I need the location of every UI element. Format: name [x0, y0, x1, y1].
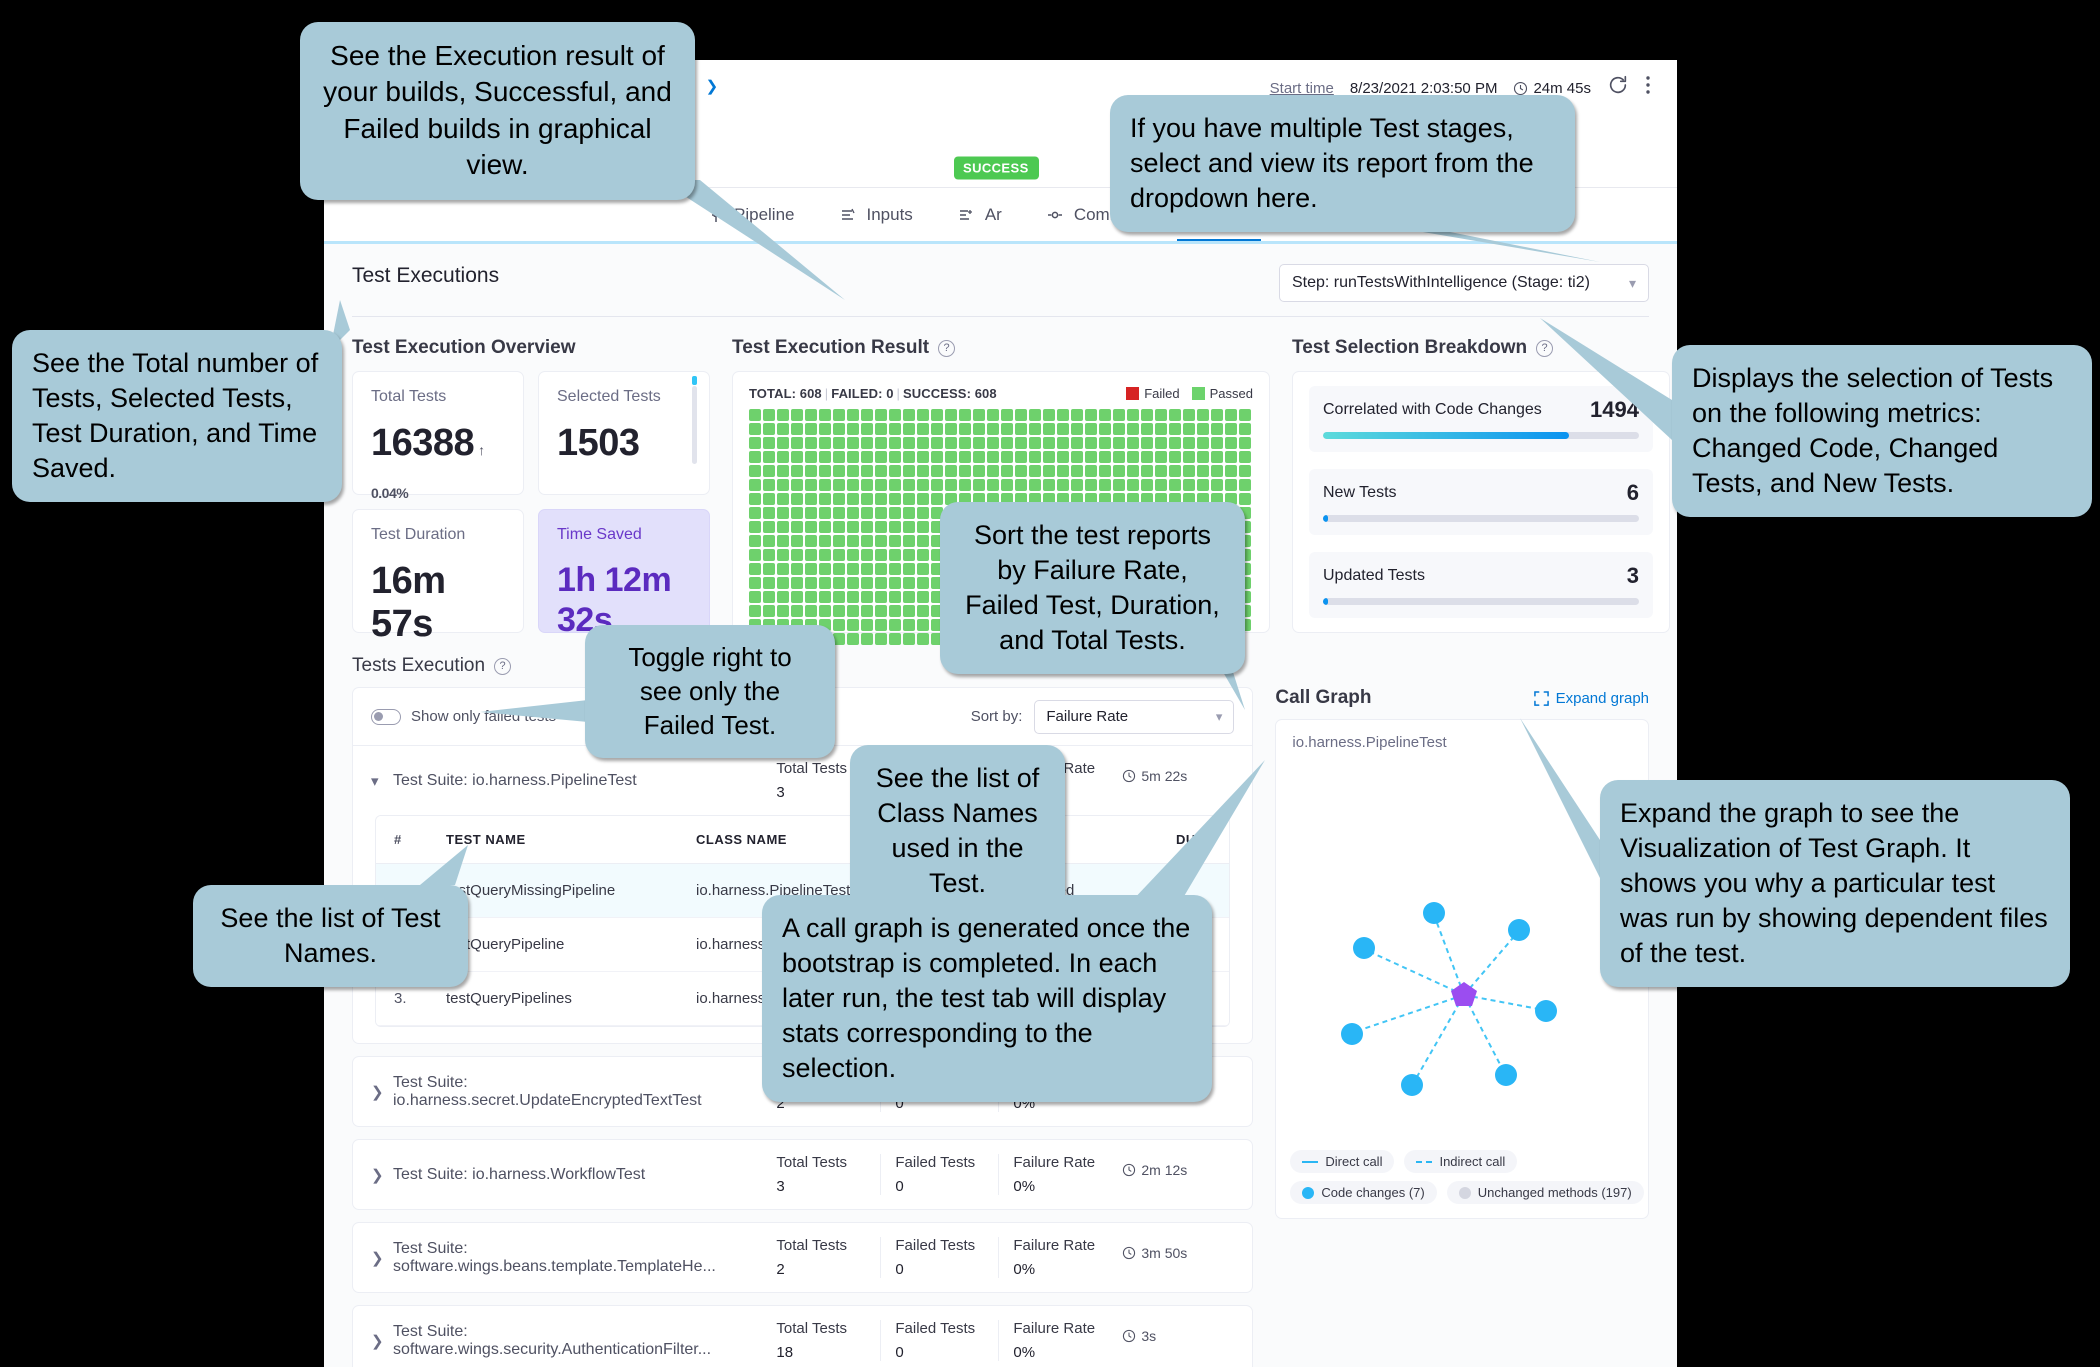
- result-tile[interactable]: [875, 451, 887, 463]
- result-tile[interactable]: [1155, 409, 1167, 421]
- result-tile[interactable]: [1015, 451, 1027, 463]
- result-tile[interactable]: [1085, 437, 1097, 449]
- result-tile[interactable]: [1127, 437, 1139, 449]
- result-tile[interactable]: [861, 591, 873, 603]
- result-tile[interactable]: [973, 451, 985, 463]
- result-tile[interactable]: [917, 451, 929, 463]
- result-tile[interactable]: [1127, 451, 1139, 463]
- result-tile[interactable]: [931, 493, 943, 505]
- result-tile[interactable]: [847, 605, 859, 617]
- result-tile[interactable]: [875, 479, 887, 491]
- result-tile[interactable]: [1071, 409, 1083, 421]
- result-tile[interactable]: [819, 591, 831, 603]
- result-tile[interactable]: [1211, 465, 1223, 477]
- result-tile[interactable]: [777, 465, 789, 477]
- result-tile[interactable]: [1239, 423, 1251, 435]
- result-tile[interactable]: [1155, 451, 1167, 463]
- result-tile[interactable]: [1057, 437, 1069, 449]
- result-tile[interactable]: [861, 465, 873, 477]
- result-tile[interactable]: [763, 465, 775, 477]
- result-tile[interactable]: [1183, 451, 1195, 463]
- result-tile[interactable]: [917, 409, 929, 421]
- result-tile[interactable]: [847, 633, 859, 645]
- result-tile[interactable]: [791, 465, 803, 477]
- result-tile[interactable]: [903, 437, 915, 449]
- tab-artifacts[interactable]: Ar: [935, 188, 1024, 242]
- result-tile[interactable]: [1057, 409, 1069, 421]
- result-tile[interactable]: [903, 409, 915, 421]
- result-tile[interactable]: [1197, 465, 1209, 477]
- tab-inputs[interactable]: Inputs: [817, 188, 935, 242]
- result-tile[interactable]: [833, 437, 845, 449]
- result-tile[interactable]: [945, 479, 957, 491]
- result-tile[interactable]: [763, 563, 775, 575]
- result-tile[interactable]: [749, 493, 761, 505]
- result-tile[interactable]: [987, 451, 999, 463]
- result-tile[interactable]: [777, 507, 789, 519]
- result-tile[interactable]: [1225, 465, 1237, 477]
- result-tile[interactable]: [833, 423, 845, 435]
- result-tile[interactable]: [903, 535, 915, 547]
- result-tile[interactable]: [833, 479, 845, 491]
- chevron-down-icon[interactable]: ▾: [371, 772, 393, 790]
- result-tile[interactable]: [1015, 423, 1027, 435]
- result-tile[interactable]: [889, 409, 901, 421]
- help-icon[interactable]: ?: [938, 340, 955, 357]
- result-tile[interactable]: [749, 521, 761, 533]
- result-tile[interactable]: [833, 535, 845, 547]
- result-tile[interactable]: [1197, 423, 1209, 435]
- result-tile[interactable]: [1085, 451, 1097, 463]
- result-tile[interactable]: [945, 451, 957, 463]
- result-tile[interactable]: [819, 437, 831, 449]
- result-tile[interactable]: [875, 549, 887, 561]
- result-tile[interactable]: [763, 409, 775, 421]
- result-tile[interactable]: [931, 479, 943, 491]
- result-tile[interactable]: [847, 479, 859, 491]
- result-tile[interactable]: [847, 521, 859, 533]
- result-tile[interactable]: [791, 521, 803, 533]
- result-tile[interactable]: [1099, 479, 1111, 491]
- result-tile[interactable]: [1197, 451, 1209, 463]
- result-tile[interactable]: [917, 493, 929, 505]
- result-tile[interactable]: [1127, 465, 1139, 477]
- result-tile[interactable]: [903, 563, 915, 575]
- result-tile[interactable]: [861, 619, 873, 631]
- result-tile[interactable]: [1015, 409, 1027, 421]
- result-tile[interactable]: [1099, 451, 1111, 463]
- result-tile[interactable]: [749, 423, 761, 435]
- result-tile[interactable]: [889, 591, 901, 603]
- result-tile[interactable]: [833, 465, 845, 477]
- result-tile[interactable]: [875, 605, 887, 617]
- result-tile[interactable]: [1113, 409, 1125, 421]
- sort-select[interactable]: Failure Rate ▾: [1034, 700, 1234, 734]
- result-tile[interactable]: [819, 409, 831, 421]
- result-tile[interactable]: [889, 465, 901, 477]
- result-tile[interactable]: [847, 507, 859, 519]
- result-tile[interactable]: [833, 577, 845, 589]
- result-tile[interactable]: [1169, 437, 1181, 449]
- help-icon[interactable]: ?: [1536, 340, 1553, 357]
- result-tile[interactable]: [917, 591, 929, 603]
- result-tile[interactable]: [889, 563, 901, 575]
- result-tile[interactable]: [1239, 437, 1251, 449]
- result-tile[interactable]: [749, 409, 761, 421]
- result-tile[interactable]: [1197, 479, 1209, 491]
- result-tile[interactable]: [889, 493, 901, 505]
- result-tile[interactable]: [861, 451, 873, 463]
- result-tile[interactable]: [1211, 423, 1223, 435]
- result-tile[interactable]: [1183, 423, 1195, 435]
- result-tile[interactable]: [1001, 465, 1013, 477]
- result-tile[interactable]: [889, 577, 901, 589]
- result-tile[interactable]: [791, 437, 803, 449]
- result-tile[interactable]: [847, 493, 859, 505]
- result-tile[interactable]: [833, 619, 845, 631]
- result-tile[interactable]: [889, 521, 901, 533]
- result-tile[interactable]: [1239, 409, 1251, 421]
- result-tile[interactable]: [805, 563, 817, 575]
- result-tile[interactable]: [917, 437, 929, 449]
- result-tile[interactable]: [1043, 437, 1055, 449]
- result-tile[interactable]: [819, 493, 831, 505]
- result-tile[interactable]: [1183, 409, 1195, 421]
- result-tile[interactable]: [875, 577, 887, 589]
- result-tile[interactable]: [861, 577, 873, 589]
- result-tile[interactable]: [1169, 465, 1181, 477]
- result-tile[interactable]: [903, 507, 915, 519]
- result-tile[interactable]: [875, 563, 887, 575]
- result-tile[interactable]: [875, 507, 887, 519]
- result-tile[interactable]: [903, 605, 915, 617]
- result-tile[interactable]: [1183, 479, 1195, 491]
- result-tile[interactable]: [917, 563, 929, 575]
- result-tile[interactable]: [1099, 437, 1111, 449]
- result-tile[interactable]: [805, 423, 817, 435]
- result-tile[interactable]: [847, 563, 859, 575]
- result-tile[interactable]: [1155, 479, 1167, 491]
- result-tile[interactable]: [833, 409, 845, 421]
- failed-only-toggle-wrap[interactable]: Show only failed tests: [371, 708, 556, 725]
- result-tile[interactable]: [1225, 423, 1237, 435]
- result-tile[interactable]: [917, 465, 929, 477]
- result-tile[interactable]: [847, 535, 859, 547]
- result-tile[interactable]: [1001, 423, 1013, 435]
- result-tile[interactable]: [1211, 451, 1223, 463]
- result-tile[interactable]: [777, 423, 789, 435]
- result-tile[interactable]: [819, 563, 831, 575]
- result-tile[interactable]: [903, 465, 915, 477]
- result-tile[interactable]: [819, 605, 831, 617]
- result-tile[interactable]: [791, 409, 803, 421]
- result-tile[interactable]: [763, 437, 775, 449]
- result-tile[interactable]: [861, 437, 873, 449]
- result-tile[interactable]: [1225, 479, 1237, 491]
- result-tile[interactable]: [847, 437, 859, 449]
- result-tile[interactable]: [1001, 437, 1013, 449]
- result-tile[interactable]: [819, 479, 831, 491]
- result-tile[interactable]: [791, 577, 803, 589]
- result-tile[interactable]: [1057, 479, 1069, 491]
- result-tile[interactable]: [847, 577, 859, 589]
- result-tile[interactable]: [805, 577, 817, 589]
- result-tile[interactable]: [805, 493, 817, 505]
- result-tile[interactable]: [1141, 479, 1153, 491]
- result-tile[interactable]: [1029, 437, 1041, 449]
- result-tile[interactable]: [1127, 409, 1139, 421]
- result-tile[interactable]: [763, 591, 775, 603]
- result-tile[interactable]: [875, 437, 887, 449]
- result-tile[interactable]: [777, 437, 789, 449]
- result-tile[interactable]: [903, 577, 915, 589]
- result-tile[interactable]: [847, 465, 859, 477]
- result-tile[interactable]: [805, 437, 817, 449]
- result-tile[interactable]: [987, 423, 999, 435]
- result-tile[interactable]: [833, 605, 845, 617]
- result-tile[interactable]: [777, 493, 789, 505]
- help-icon[interactable]: ?: [494, 658, 511, 675]
- result-tile[interactable]: [1015, 479, 1027, 491]
- result-tile[interactable]: [945, 423, 957, 435]
- test-suite-header[interactable]: ❯ Test Suite: software.wings.beans.templ…: [353, 1223, 1252, 1292]
- test-suite-header[interactable]: ❯ Test Suite: io.harness.WorkflowTest To…: [353, 1140, 1252, 1209]
- result-tile[interactable]: [819, 521, 831, 533]
- result-tile[interactable]: [889, 619, 901, 631]
- result-tile[interactable]: [805, 549, 817, 561]
- result-tile[interactable]: [777, 409, 789, 421]
- result-tile[interactable]: [1127, 423, 1139, 435]
- call-graph-canvas[interactable]: io.harness.PipelineTest: [1275, 719, 1649, 1219]
- result-tile[interactable]: [749, 577, 761, 589]
- result-tile[interactable]: [875, 633, 887, 645]
- result-tile[interactable]: [889, 451, 901, 463]
- result-tile[interactable]: [875, 423, 887, 435]
- result-tile[interactable]: [861, 633, 873, 645]
- result-tile[interactable]: [945, 465, 957, 477]
- result-tile[interactable]: [1239, 493, 1251, 505]
- result-tile[interactable]: [791, 451, 803, 463]
- result-tile[interactable]: [1169, 479, 1181, 491]
- result-tile[interactable]: [973, 437, 985, 449]
- result-tile[interactable]: [959, 479, 971, 491]
- result-tile[interactable]: [791, 423, 803, 435]
- result-tile[interactable]: [833, 507, 845, 519]
- result-tile[interactable]: [1001, 409, 1013, 421]
- result-tile[interactable]: [1141, 423, 1153, 435]
- result-tile[interactable]: [1113, 423, 1125, 435]
- result-tile[interactable]: [805, 521, 817, 533]
- result-tile[interactable]: [805, 465, 817, 477]
- result-tile[interactable]: [917, 521, 929, 533]
- result-tile[interactable]: [1029, 423, 1041, 435]
- result-tile[interactable]: [889, 549, 901, 561]
- result-tile[interactable]: [763, 451, 775, 463]
- result-tile[interactable]: [931, 437, 943, 449]
- result-tile[interactable]: [805, 535, 817, 547]
- result-tile[interactable]: [1113, 451, 1125, 463]
- result-tile[interactable]: [917, 549, 929, 561]
- result-tile[interactable]: [1211, 409, 1223, 421]
- failed-only-toggle[interactable]: [371, 709, 401, 725]
- result-tile[interactable]: [763, 535, 775, 547]
- result-tile[interactable]: [861, 507, 873, 519]
- result-tile[interactable]: [861, 409, 873, 421]
- result-tile[interactable]: [777, 521, 789, 533]
- result-tile[interactable]: [959, 437, 971, 449]
- result-tile[interactable]: [1085, 409, 1097, 421]
- result-tile[interactable]: [763, 549, 775, 561]
- result-tile[interactable]: [749, 563, 761, 575]
- result-tile[interactable]: [945, 437, 957, 449]
- result-tile[interactable]: [749, 549, 761, 561]
- result-tile[interactable]: [1141, 409, 1153, 421]
- result-tile[interactable]: [847, 619, 859, 631]
- result-tile[interactable]: [1071, 479, 1083, 491]
- result-tile[interactable]: [847, 409, 859, 421]
- result-tile[interactable]: [903, 451, 915, 463]
- result-tile[interactable]: [777, 451, 789, 463]
- result-tile[interactable]: [749, 479, 761, 491]
- result-tile[interactable]: [931, 409, 943, 421]
- result-tile[interactable]: [1043, 479, 1055, 491]
- result-tile[interactable]: [791, 563, 803, 575]
- result-tile[interactable]: [763, 479, 775, 491]
- result-tile[interactable]: [987, 437, 999, 449]
- result-tile[interactable]: [1113, 465, 1125, 477]
- result-tile[interactable]: [791, 479, 803, 491]
- result-tile[interactable]: [1141, 451, 1153, 463]
- result-tile[interactable]: [1183, 465, 1195, 477]
- chevron-right-icon[interactable]: ❯: [371, 1083, 393, 1101]
- result-tile[interactable]: [1057, 451, 1069, 463]
- result-tile[interactable]: [1071, 437, 1083, 449]
- result-tile[interactable]: [749, 535, 761, 547]
- result-tile[interactable]: [861, 479, 873, 491]
- result-tile[interactable]: [833, 549, 845, 561]
- more-options-icon[interactable]: [1645, 74, 1651, 102]
- result-tile[interactable]: [1113, 437, 1125, 449]
- result-tile[interactable]: [1169, 409, 1181, 421]
- result-tile[interactable]: [1197, 409, 1209, 421]
- result-tile[interactable]: [987, 465, 999, 477]
- result-tile[interactable]: [917, 619, 929, 631]
- result-tile[interactable]: [763, 605, 775, 617]
- result-tile[interactable]: [861, 563, 873, 575]
- result-tile[interactable]: [777, 591, 789, 603]
- result-tile[interactable]: [1057, 465, 1069, 477]
- test-suite-header[interactable]: ❯ Test Suite: software.wings.security.Au…: [353, 1306, 1252, 1367]
- result-tile[interactable]: [1099, 409, 1111, 421]
- result-tile[interactable]: [861, 521, 873, 533]
- result-tile[interactable]: [959, 465, 971, 477]
- result-tile[interactable]: [931, 465, 943, 477]
- result-tile[interactable]: [917, 479, 929, 491]
- result-tile[interactable]: [1197, 437, 1209, 449]
- result-tile[interactable]: [819, 465, 831, 477]
- result-tile[interactable]: [1071, 423, 1083, 435]
- result-tile[interactable]: [749, 591, 761, 603]
- result-tile[interactable]: [791, 549, 803, 561]
- result-tile[interactable]: [1057, 423, 1069, 435]
- result-tile[interactable]: [931, 451, 943, 463]
- result-tile[interactable]: [1113, 479, 1125, 491]
- result-tile[interactable]: [987, 479, 999, 491]
- result-tile[interactable]: [1155, 423, 1167, 435]
- result-tile[interactable]: [903, 633, 915, 645]
- result-tile[interactable]: [791, 605, 803, 617]
- result-tile[interactable]: [875, 521, 887, 533]
- result-tile[interactable]: [777, 563, 789, 575]
- result-tile[interactable]: [973, 479, 985, 491]
- result-tile[interactable]: [959, 423, 971, 435]
- step-selector[interactable]: Step: runTestsWithIntelligence (Stage: t…: [1279, 264, 1649, 302]
- result-tile[interactable]: [1099, 465, 1111, 477]
- result-tile[interactable]: [805, 605, 817, 617]
- result-tile[interactable]: [833, 521, 845, 533]
- result-tile[interactable]: [1211, 437, 1223, 449]
- result-tile[interactable]: [1155, 437, 1167, 449]
- result-tile[interactable]: [805, 479, 817, 491]
- result-tile[interactable]: [903, 549, 915, 561]
- result-tile[interactable]: [1029, 465, 1041, 477]
- result-tile[interactable]: [889, 479, 901, 491]
- result-tile[interactable]: [875, 493, 887, 505]
- result-tile[interactable]: [805, 451, 817, 463]
- result-tile[interactable]: [1029, 409, 1041, 421]
- result-tile[interactable]: [903, 479, 915, 491]
- result-tile[interactable]: [917, 507, 929, 519]
- result-tile[interactable]: [973, 409, 985, 421]
- result-tile[interactable]: [1169, 423, 1181, 435]
- result-tile[interactable]: [791, 493, 803, 505]
- result-tile[interactable]: [889, 535, 901, 547]
- result-tile[interactable]: [1015, 437, 1027, 449]
- result-tile[interactable]: [875, 409, 887, 421]
- result-tile[interactable]: [1043, 465, 1055, 477]
- result-tile[interactable]: [819, 549, 831, 561]
- result-tile[interactable]: [819, 451, 831, 463]
- result-tile[interactable]: [777, 549, 789, 561]
- result-tile[interactable]: [903, 493, 915, 505]
- result-tile[interactable]: [777, 479, 789, 491]
- result-tile[interactable]: [889, 423, 901, 435]
- result-tile[interactable]: [875, 591, 887, 603]
- result-tile[interactable]: [1225, 437, 1237, 449]
- result-tile[interactable]: [763, 577, 775, 589]
- result-tile[interactable]: [749, 465, 761, 477]
- chevron-right-icon[interactable]: ❯: [371, 1249, 393, 1267]
- chevron-right-icon[interactable]: ❯: [371, 1332, 393, 1350]
- result-tile[interactable]: [1085, 479, 1097, 491]
- result-tile[interactable]: [1155, 465, 1167, 477]
- result-tile[interactable]: [777, 577, 789, 589]
- result-tile[interactable]: [875, 535, 887, 547]
- result-tile[interactable]: [805, 507, 817, 519]
- result-tile[interactable]: [749, 507, 761, 519]
- result-tile[interactable]: [1239, 451, 1251, 463]
- result-tile[interactable]: [917, 633, 929, 645]
- expand-graph-button[interactable]: Expand graph: [1534, 690, 1649, 707]
- result-tile[interactable]: [1071, 465, 1083, 477]
- card-scroll-indicator[interactable]: [692, 386, 697, 464]
- result-tile[interactable]: [1001, 479, 1013, 491]
- result-tile[interactable]: [875, 619, 887, 631]
- result-tile[interactable]: [847, 549, 859, 561]
- result-tile[interactable]: [903, 619, 915, 631]
- result-tile[interactable]: [1071, 451, 1083, 463]
- result-tile[interactable]: [1085, 423, 1097, 435]
